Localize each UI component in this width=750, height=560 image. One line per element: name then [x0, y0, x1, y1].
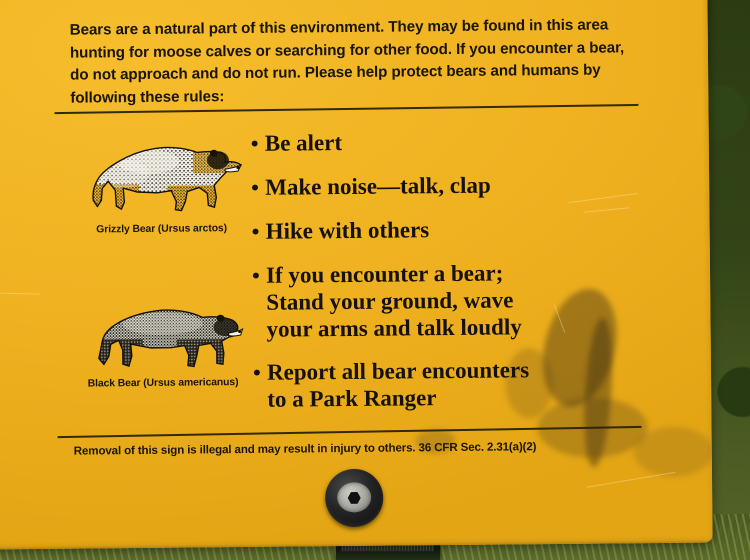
bullet-icon: •	[251, 131, 265, 157]
figure-caption: Black Bear (Ursus americanus)	[77, 377, 249, 390]
rule-text: Report all bear encounters to a Park Ran…	[267, 358, 530, 414]
rule-item: • Make noise—talk, clap	[251, 172, 581, 202]
rule-text: Be alert	[265, 130, 343, 158]
grizzly-bear-illustration	[75, 129, 244, 223]
rules-list: • Be alert • Make noise—talk, clap • Hik…	[251, 128, 584, 431]
legal-footer: Removal of this sign is illegal and may …	[74, 439, 654, 458]
bullet-icon: •	[252, 219, 266, 245]
rule-item: • If you encounter a bear; Stand your gr…	[252, 259, 583, 343]
figure-grizzly-bear: Grizzly Bear (Ursus arctos)	[75, 129, 256, 236]
rule-item: • Report all bear encounters to a Park R…	[253, 357, 584, 414]
black-bear-illustration	[76, 283, 245, 377]
bullet-icon: •	[253, 360, 267, 386]
hex-bolt-icon	[325, 469, 384, 528]
intro-paragraph: Bears are a natural part of this environ…	[70, 14, 637, 109]
rule-item: • Be alert	[251, 128, 581, 158]
rule-text: Hike with others	[266, 217, 430, 245]
figure-black-bear: Black Bear (Ursus americanus)	[76, 283, 257, 390]
bullet-icon: •	[251, 175, 265, 201]
rule-text: Make noise—talk, clap	[265, 173, 491, 202]
bear-warning-sign: Bears are a natural part of this environ…	[0, 0, 713, 549]
rule-text: If you encounter a bear; Stand your grou…	[266, 260, 522, 343]
bullet-icon: •	[252, 262, 266, 288]
figure-caption: Grizzly Bear (Ursus arctos)	[76, 223, 248, 236]
rule-item: • Hike with others	[252, 216, 582, 246]
